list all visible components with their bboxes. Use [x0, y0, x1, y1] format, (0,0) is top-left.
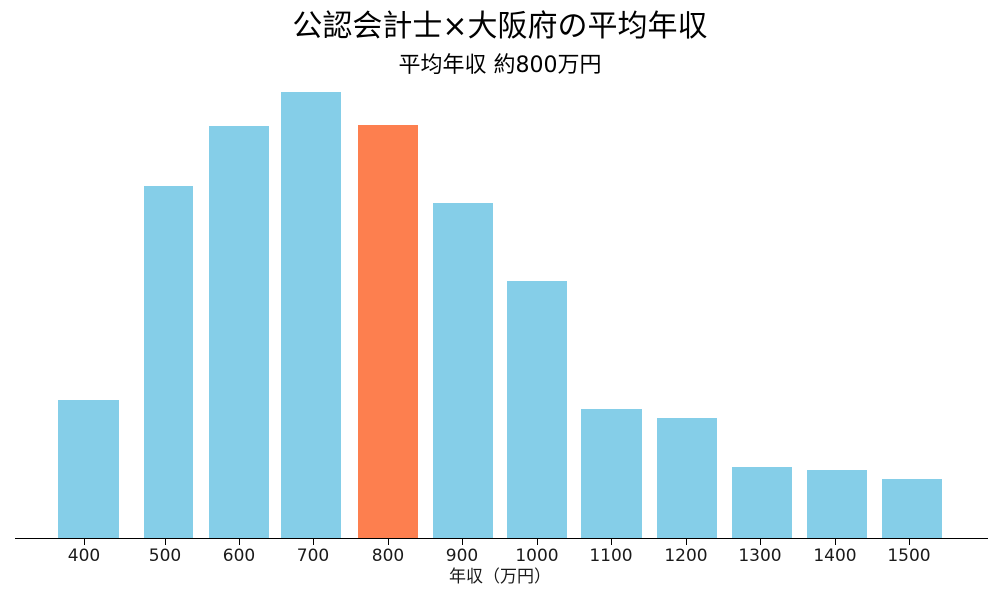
x-axis-tick-label: 1500: [869, 545, 949, 567]
x-axis-tick-label: 1200: [646, 545, 726, 567]
bar: [144, 186, 193, 538]
plot-area: 4005006007008009001000110012001300140015…: [0, 0, 1000, 600]
x-axis-tick-label: 400: [44, 545, 124, 567]
x-axis-tick-label: 600: [199, 545, 279, 567]
chart-figure: 公認会計士×大阪府の平均年収 平均年収 約800万円 4005006007008…: [0, 0, 1000, 600]
x-axis-tick-label: 1000: [497, 545, 577, 567]
bar: [732, 467, 792, 538]
x-axis-line: [15, 538, 988, 539]
x-axis-tick-label: 900: [422, 545, 502, 567]
bar: [358, 125, 418, 538]
bar: [581, 409, 642, 538]
x-axis-label: 年収（万円）: [0, 566, 1000, 588]
x-axis-tick-label: 500: [125, 545, 205, 567]
bar: [882, 479, 942, 538]
x-axis-tick-label: 1100: [571, 545, 651, 567]
bar: [507, 281, 567, 538]
x-axis-tick-label: 800: [348, 545, 428, 567]
x-axis-tick-label: 700: [273, 545, 353, 567]
bar: [657, 418, 717, 538]
bar: [58, 400, 119, 538]
x-axis-tick-label: 1400: [795, 545, 875, 567]
bar: [281, 92, 341, 538]
bar: [209, 126, 269, 538]
bar: [433, 203, 493, 538]
x-axis-tick-label: 1300: [720, 545, 800, 567]
bar: [807, 470, 867, 538]
